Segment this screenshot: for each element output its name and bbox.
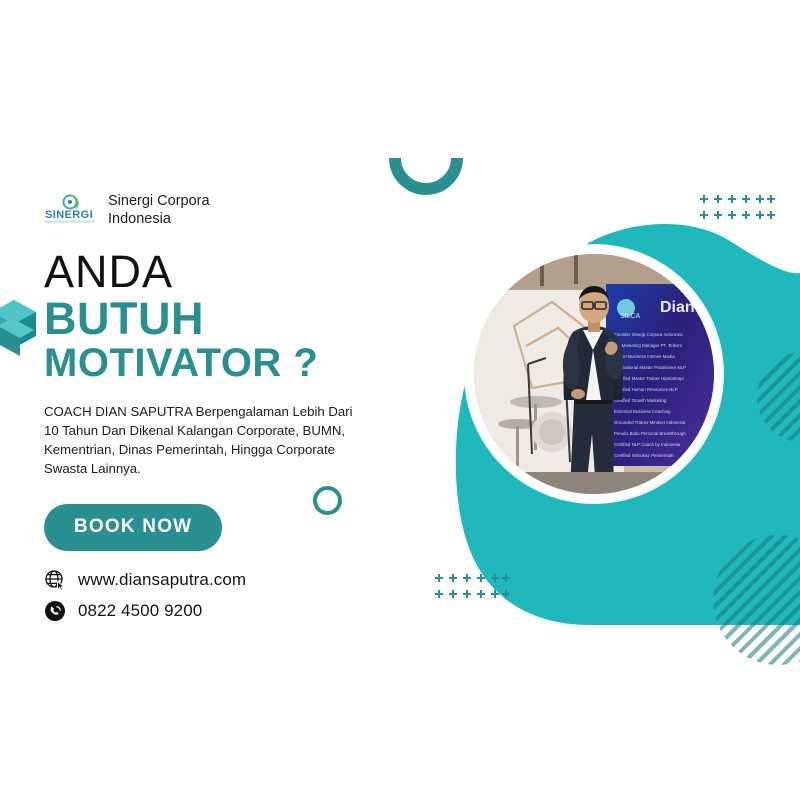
phone-icon <box>44 600 66 622</box>
diagonal-stripe-circle-bottom <box>713 535 800 665</box>
headline-line-2: BUTUH <box>44 296 404 342</box>
svg-text:Certified Master Trainer Hipno: Certified Master Trainer Hipnoterapi <box>614 376 684 381</box>
content-column: SINERGI Sinergi Corpora Indonesia ANDA B… <box>44 192 404 631</box>
speaker-photo-frame: SILCA Dian Founder Sinergi Corpora Indon… <box>465 245 723 503</box>
svg-text:Founder Sinergi Corpora Indone: Founder Sinergi Corpora Indonesia <box>614 332 683 337</box>
description-text: COACH DIAN SAPUTRA Berpengalaman Lebih D… <box>44 403 366 478</box>
cube-logo-mark-icon <box>0 296 46 364</box>
svg-text:Essential Business Coaching: Essential Business Coaching <box>614 409 671 414</box>
promo-banner: SILCA Dian Founder Sinergi Corpora Indon… <box>0 0 800 800</box>
diagonal-stripe-circle-right <box>757 352 800 442</box>
svg-text:Certified Instruktur Pemerinta: Certified Instruktur Pemerintah <box>614 453 674 458</box>
speaker-photo: SILCA Dian Founder Sinergi Corpora Indon… <box>474 254 714 494</box>
svg-text:International Master Practitio: International Master Practitioner NLP <box>614 365 686 370</box>
contact-website[interactable]: www.diansaputra.com <box>44 569 404 591</box>
svg-text:Dian: Dian <box>660 299 695 316</box>
sinergi-logo-icon: SINERGI <box>44 193 98 227</box>
svg-text:Grounded Trainer Mindset Indon: Grounded Trainer Mindset Indonesia <box>614 420 686 425</box>
brand-lockup: SINERGI Sinergi Corpora Indonesia <box>44 192 404 228</box>
svg-text:Ex. Marketing Manager PT. Telk: Ex. Marketing Manager PT. Telkom <box>614 343 682 348</box>
plus-dot-grid-bottom <box>432 573 510 608</box>
phone-number: 0822 4500 9200 <box>78 601 202 621</box>
svg-text:SINERGI: SINERGI <box>45 209 93 221</box>
svg-text:SILCA: SILCA <box>620 313 641 320</box>
headline-line-1: ANDA <box>44 250 404 294</box>
svg-text:Penulis Buku Personal Breakthr: Penulis Buku Personal Breakthrough <box>614 431 686 436</box>
headline-line-3: MOTIVATOR ? <box>44 342 404 385</box>
book-now-button[interactable]: BOOK NOW <box>44 504 222 551</box>
brand-name: Sinergi Corpora Indonesia <box>108 192 210 228</box>
contact-phone[interactable]: 0822 4500 9200 <box>44 600 404 622</box>
svg-text:Certified NLP Coach by Indones: Certified NLP Coach by Indonesia <box>614 442 681 447</box>
website-url: www.diansaputra.com <box>78 570 246 590</box>
svg-text:Certified Human Resources NLP: Certified Human Resources NLP <box>614 387 678 392</box>
globe-cursor-icon <box>44 569 66 591</box>
plus-dot-grid-top-right <box>697 194 775 229</box>
